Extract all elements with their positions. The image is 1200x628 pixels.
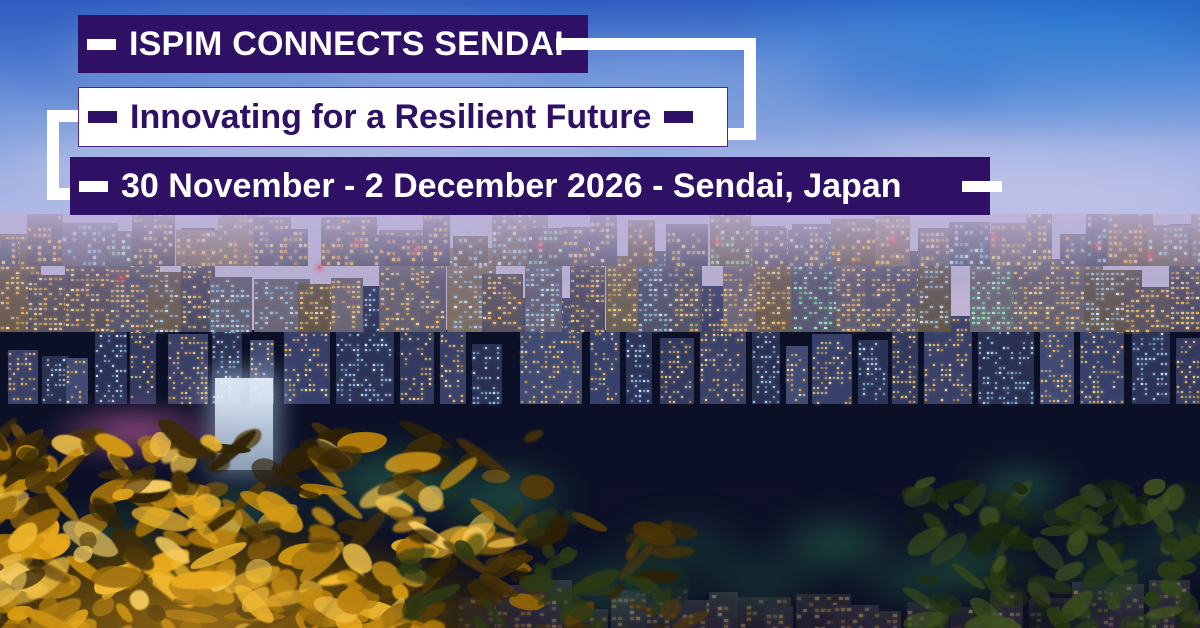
building-window [317, 364, 319, 366]
building-window [525, 351, 527, 353]
building-window [533, 361, 535, 363]
building-window [297, 379, 299, 381]
building-window [536, 284, 539, 286]
building-window [1019, 277, 1022, 279]
building-window [759, 600, 763, 603]
building-window [106, 274, 109, 276]
building-window [972, 297, 975, 299]
building-window [461, 335, 463, 337]
building-window [969, 384, 971, 386]
building-window [581, 330, 584, 332]
building-window [787, 292, 790, 294]
building-window [892, 289, 895, 291]
building-window [601, 259, 604, 262]
building-window [1161, 290, 1164, 292]
building-window [241, 325, 244, 327]
building-window [887, 314, 890, 316]
building-window [83, 361, 85, 363]
building-window [892, 284, 895, 286]
building-window [131, 290, 134, 292]
building-window [777, 292, 780, 294]
building-window [847, 329, 850, 331]
building-window [160, 295, 163, 297]
building-window [787, 369, 789, 371]
building-window [857, 240, 860, 243]
building-window [1093, 371, 1095, 373]
building-window [49, 318, 52, 320]
building-window [325, 369, 327, 371]
building-window [737, 364, 739, 366]
building-window [685, 314, 688, 316]
building-window [29, 353, 31, 355]
building-window [664, 329, 667, 331]
building-window [425, 373, 427, 375]
building-window [392, 240, 395, 243]
building-window [357, 291, 360, 293]
building-window [401, 303, 404, 305]
building-window [350, 244, 353, 247]
building-window [255, 250, 258, 253]
building-window [623, 319, 626, 321]
building-window [402, 246, 405, 249]
building-window [909, 336, 911, 338]
building-window [883, 378, 885, 380]
building-window [749, 289, 752, 291]
building-window [503, 312, 506, 314]
building-window [769, 356, 771, 358]
building-window [1061, 277, 1064, 279]
building-window [300, 307, 303, 309]
city-building [1132, 320, 1170, 404]
building-window [513, 256, 516, 259]
building-window [1019, 307, 1022, 309]
building-window [717, 394, 719, 396]
building-window [285, 322, 288, 324]
building-window [909, 366, 911, 368]
building-window [84, 608, 88, 611]
building-window [270, 312, 273, 314]
building-window [325, 389, 327, 391]
building-window [337, 286, 340, 288]
building-window [454, 271, 457, 273]
building-window [1181, 391, 1183, 393]
building-window [1027, 357, 1029, 359]
building-window [809, 292, 812, 294]
building-window [1043, 250, 1046, 253]
building-window [681, 371, 683, 373]
building-window [829, 302, 832, 304]
building-window [91, 309, 94, 311]
building-window [518, 282, 521, 284]
building-window [1111, 283, 1114, 285]
building-window [1141, 363, 1143, 365]
building-window [301, 334, 303, 336]
building-window [219, 261, 222, 264]
building-window [1181, 267, 1184, 269]
building-window [810, 263, 813, 266]
building-window [586, 295, 589, 297]
building-window [1133, 388, 1135, 390]
building-window [639, 294, 642, 296]
building-window [1011, 357, 1013, 359]
building-window [411, 273, 414, 275]
building-window [1121, 401, 1123, 403]
building-window [998, 595, 1002, 598]
building-window [365, 349, 367, 351]
building-window [357, 334, 359, 336]
building-window [997, 312, 1000, 314]
building-window [515, 600, 519, 603]
building-window [613, 304, 616, 306]
building-window [488, 287, 491, 289]
building-window [639, 269, 642, 271]
building-window [998, 613, 1002, 616]
building-window [353, 364, 355, 366]
building-window [16, 327, 19, 329]
building-window [649, 289, 652, 291]
building-window [497, 377, 499, 379]
building-window [639, 395, 641, 397]
building-window [1181, 361, 1183, 363]
building-window [979, 347, 981, 349]
building-window [837, 367, 839, 369]
building-window [821, 382, 823, 384]
building-window [809, 272, 812, 274]
building-window [1061, 302, 1064, 304]
building-window [681, 341, 683, 343]
building-window [977, 322, 980, 324]
building-window [96, 299, 99, 301]
building-window [310, 317, 313, 319]
building-window [127, 258, 130, 261]
building-window [513, 250, 516, 253]
building-window [777, 267, 780, 269]
building-window [205, 347, 207, 349]
building-window [290, 297, 293, 299]
building-window [151, 361, 153, 363]
building-window [386, 288, 389, 290]
building-window [503, 256, 506, 259]
building-window [1139, 224, 1142, 227]
building-window [182, 263, 185, 266]
building-window [347, 286, 350, 288]
building-window [564, 242, 567, 245]
building-window [139, 376, 141, 378]
building-window [1007, 327, 1010, 329]
building-window [757, 327, 760, 329]
building-window [193, 271, 196, 273]
building-window [665, 381, 667, 383]
building-window [483, 600, 487, 603]
building-window [29, 368, 31, 370]
building-window [360, 244, 363, 247]
building-window [1056, 282, 1059, 284]
building-window [1041, 370, 1043, 372]
building-window [1103, 217, 1106, 220]
building-window [729, 329, 732, 331]
building-window [849, 377, 851, 379]
building-window [857, 314, 860, 316]
building-window [782, 322, 785, 324]
building-window [498, 262, 501, 265]
building-window [1161, 310, 1164, 312]
building-window [930, 321, 933, 323]
building-window [882, 314, 885, 316]
building-window [664, 294, 667, 296]
building-window [154, 255, 157, 258]
building-window [216, 300, 219, 302]
building-window [1196, 327, 1199, 329]
building-window [1007, 262, 1010, 265]
building-window [112, 365, 114, 367]
building-window [409, 398, 411, 400]
building-window [705, 349, 707, 351]
building-window [1111, 328, 1114, 330]
building-window [459, 251, 462, 254]
building-window [1157, 393, 1159, 395]
building-window [753, 612, 757, 615]
city-building [950, 607, 982, 628]
building-window [1069, 350, 1071, 352]
building-window [1057, 340, 1059, 342]
building-window [1093, 401, 1095, 403]
building-window [945, 369, 947, 371]
building-window [545, 361, 547, 363]
building-window [454, 326, 457, 328]
building-window [1015, 372, 1017, 374]
building-window [13, 398, 15, 400]
building-window [1024, 292, 1027, 294]
building-window [365, 299, 367, 301]
building-window [1117, 371, 1119, 373]
building-window [541, 324, 544, 326]
building-window [711, 249, 714, 252]
building-window [565, 341, 567, 343]
building-window [143, 356, 145, 358]
building-window [533, 351, 535, 353]
building-window [654, 329, 657, 331]
building-window [1081, 249, 1084, 252]
building-window [893, 381, 895, 383]
building-window [1010, 619, 1014, 622]
building-window [396, 273, 399, 275]
building-window [300, 297, 303, 299]
building-window [465, 624, 469, 627]
building-window [59, 293, 62, 295]
building-window [193, 326, 196, 328]
building-window [234, 255, 237, 258]
building-window [141, 325, 144, 327]
building-window [216, 285, 219, 287]
building-window [893, 376, 895, 378]
city-building [709, 592, 738, 628]
building-window [765, 361, 767, 363]
building-window [631, 400, 633, 402]
building-window [920, 321, 923, 323]
building-window [124, 616, 128, 619]
building-window [289, 349, 291, 351]
building-window [1069, 380, 1071, 382]
building-window [591, 290, 594, 292]
building-window [1176, 297, 1179, 299]
building-window [71, 371, 73, 373]
building-window [108, 385, 110, 387]
building-window [633, 319, 636, 321]
building-window [120, 370, 122, 372]
building-window [196, 620, 200, 623]
building-window [1014, 307, 1017, 309]
building-window [709, 304, 711, 306]
building-window [436, 301, 439, 303]
building-window [136, 270, 139, 272]
building-window [1136, 278, 1139, 280]
building-window [313, 600, 317, 603]
building-window [557, 356, 559, 358]
building-window [827, 597, 831, 600]
building-window [1174, 228, 1177, 231]
building-window [16, 277, 19, 279]
city-building [571, 609, 608, 628]
building-window [114, 584, 118, 587]
building-window [1065, 335, 1067, 337]
building-window [945, 311, 948, 313]
building-window [17, 358, 19, 360]
building-window [349, 389, 351, 391]
building-window [1007, 287, 1010, 289]
building-window [581, 270, 584, 272]
building-window [814, 302, 817, 304]
building-window [267, 353, 269, 355]
building-window [787, 272, 790, 274]
building-window [34, 288, 37, 290]
city-building [482, 274, 523, 332]
building-window [1193, 396, 1195, 398]
building-window [342, 301, 345, 303]
building-window [211, 285, 214, 287]
building-window [892, 294, 895, 296]
building-window [780, 261, 783, 264]
building-window [813, 377, 815, 379]
building-window [709, 294, 711, 296]
building-window [518, 302, 521, 304]
building-window [150, 325, 153, 327]
building-window [122, 246, 125, 249]
building-window [508, 322, 511, 324]
building-window [769, 376, 771, 378]
building-window [406, 313, 409, 315]
building-window [871, 353, 873, 355]
building-window [1186, 272, 1189, 274]
building-window [120, 335, 122, 337]
building-window [397, 258, 400, 261]
building-window [765, 336, 767, 338]
building-window [444, 240, 447, 243]
building-window [767, 287, 770, 289]
building-window [913, 376, 915, 378]
building-window [982, 307, 985, 309]
building-window [849, 397, 851, 399]
building-window [131, 315, 134, 317]
building-window [461, 400, 463, 402]
building-window [849, 372, 851, 374]
building-window [361, 359, 363, 361]
building-window [1186, 317, 1189, 319]
building-window [551, 294, 554, 296]
building-window [1164, 234, 1167, 237]
building-window [721, 399, 723, 401]
building-window [160, 330, 163, 332]
building-window [91, 329, 94, 331]
building-window [661, 351, 663, 353]
building-window [1038, 256, 1041, 259]
building-window [301, 349, 303, 351]
building-window [1071, 322, 1074, 324]
building-window [1134, 236, 1137, 239]
building-window [586, 285, 589, 287]
building-window [534, 601, 538, 604]
building-window [755, 243, 758, 246]
building-window [912, 314, 915, 316]
building-window [979, 352, 981, 354]
building-window [34, 308, 37, 310]
building-window [515, 618, 519, 621]
building-window [721, 243, 724, 246]
building-window [11, 277, 14, 279]
building-window [957, 354, 959, 356]
building-window [907, 324, 910, 326]
building-window [1081, 361, 1083, 363]
building-window [561, 401, 563, 403]
building-window [635, 360, 637, 362]
building-window [44, 308, 47, 310]
building-window [837, 319, 840, 321]
building-window [669, 361, 671, 363]
building-window [591, 295, 594, 297]
building-window [713, 329, 715, 331]
building-window [33, 378, 35, 380]
building-window [933, 364, 935, 366]
building-window [902, 324, 905, 326]
building-window [982, 312, 985, 314]
building-window [143, 346, 145, 348]
building-window [170, 315, 173, 317]
building-window [479, 251, 482, 254]
building-window [59, 328, 62, 330]
building-window [539, 255, 542, 258]
building-window [352, 296, 355, 298]
building-window [553, 371, 555, 373]
building-window [907, 314, 910, 316]
building-window [933, 344, 935, 346]
building-window [357, 281, 360, 283]
building-window [665, 376, 667, 378]
building-window [639, 400, 641, 402]
building-window [961, 359, 963, 361]
building-window [897, 341, 899, 343]
building-window [320, 297, 323, 299]
building-window [16, 317, 19, 319]
building-window [1174, 258, 1177, 261]
building-window [907, 274, 910, 276]
building-window [6, 282, 9, 284]
building-window [1131, 325, 1134, 327]
building-window [729, 364, 731, 366]
building-window [649, 319, 652, 321]
building-window [1076, 277, 1079, 279]
building-window [421, 383, 423, 385]
building-window [93, 262, 96, 265]
building-window [1053, 350, 1055, 352]
